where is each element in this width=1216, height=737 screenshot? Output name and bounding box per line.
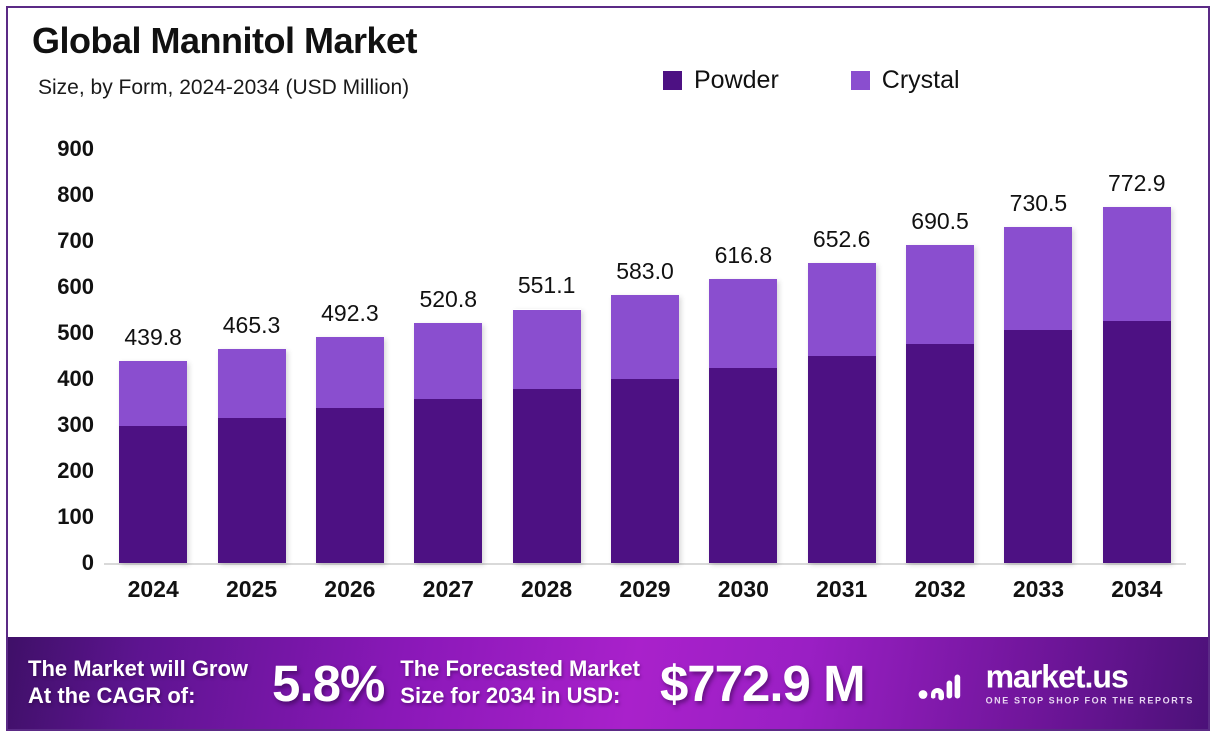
bar-segment-crystal[interactable]: [808, 263, 876, 356]
bar-segment-crystal[interactable]: [1004, 227, 1072, 330]
bar-total-label: 730.5: [1010, 190, 1068, 217]
y-axis: 0100200300400500600700800900: [32, 8, 94, 637]
cagr-block: The Market will Grow At the CAGR of: 5.8…: [8, 654, 384, 713]
bar-total-label: 772.9: [1108, 170, 1166, 197]
bar-stack[interactable]: [414, 323, 482, 563]
bar-segment-crystal[interactable]: [611, 295, 679, 379]
x-axis-tick-2025: 2025: [226, 576, 277, 603]
bars-area: 439.82024465.32025492.32026520.82027551.…: [104, 8, 1186, 637]
bar-group-2032[interactable]: 690.52032: [891, 8, 989, 637]
bar-stack[interactable]: [1103, 207, 1171, 563]
bar-segment-powder[interactable]: [119, 426, 187, 563]
bar-segment-crystal[interactable]: [119, 361, 187, 426]
forecast-block: The Forecasted Market Size for 2034 in U…: [384, 654, 864, 713]
y-axis-tick-400: 400: [57, 366, 94, 392]
logo-wordmark: market.us: [986, 661, 1194, 693]
bar-group-2026[interactable]: 492.32026: [301, 8, 399, 637]
bar-group-2024[interactable]: 439.82024: [104, 8, 202, 637]
x-axis-tick-2024: 2024: [128, 576, 179, 603]
bar-total-label: 465.3: [223, 312, 281, 339]
bar-segment-crystal[interactable]: [906, 245, 974, 343]
x-axis-tick-2031: 2031: [816, 576, 867, 603]
x-axis-tick-2029: 2029: [619, 576, 670, 603]
bar-segment-crystal[interactable]: [513, 310, 581, 389]
y-axis-tick-0: 0: [82, 550, 94, 576]
chart-card: Global Mannitol Market Size, by Form, 20…: [8, 8, 1208, 637]
bar-segment-powder[interactable]: [709, 368, 777, 563]
bar-segment-powder[interactable]: [1004, 330, 1072, 563]
bar-segment-crystal[interactable]: [709, 279, 777, 368]
forecast-caption: The Forecasted Market Size for 2034 in U…: [400, 656, 640, 710]
bar-stack[interactable]: [1004, 227, 1072, 563]
y-axis-tick-900: 900: [57, 136, 94, 162]
bar-stack[interactable]: [316, 337, 384, 563]
bar-group-2027[interactable]: 520.82027: [399, 8, 497, 637]
forecast-caption-line2: Size for 2034 in USD:: [400, 683, 640, 710]
bar-stack[interactable]: [808, 263, 876, 563]
y-axis-tick-600: 600: [57, 274, 94, 300]
forecast-value: $772.9 M: [660, 654, 865, 713]
footer-banner: The Market will Grow At the CAGR of: 5.8…: [8, 637, 1208, 729]
cagr-caption-line2: At the CAGR of:: [28, 683, 248, 710]
bar-total-label: 652.6: [813, 226, 871, 253]
bar-segment-powder[interactable]: [513, 389, 581, 563]
x-axis-tick-2034: 2034: [1111, 576, 1162, 603]
bar-stack[interactable]: [513, 309, 581, 563]
infographic-card: Global Mannitol Market Size, by Form, 20…: [6, 6, 1210, 731]
bar-group-2028[interactable]: 551.12028: [497, 8, 595, 637]
logo-tagline: ONE STOP SHOP FOR THE REPORTS: [986, 696, 1194, 706]
x-axis-tick-2033: 2033: [1013, 576, 1064, 603]
bar-total-label: 616.8: [715, 242, 773, 269]
bar-segment-powder[interactable]: [1103, 321, 1171, 563]
y-axis-tick-100: 100: [57, 504, 94, 530]
bar-segment-powder[interactable]: [316, 408, 384, 563]
bar-segment-powder[interactable]: [808, 356, 876, 563]
forecast-caption-line1: The Forecasted Market: [400, 656, 640, 683]
bar-total-label: 492.3: [321, 300, 379, 327]
x-axis-tick-2030: 2030: [718, 576, 769, 603]
bar-group-2034[interactable]: 772.92034: [1088, 8, 1186, 637]
bar-stack[interactable]: [119, 361, 187, 563]
bar-stack[interactable]: [611, 295, 679, 563]
y-axis-tick-300: 300: [57, 412, 94, 438]
bar-group-2025[interactable]: 465.32025: [202, 8, 300, 637]
x-axis-tick-2026: 2026: [324, 576, 375, 603]
cagr-caption-line1: The Market will Grow: [28, 656, 248, 683]
logo-mark-icon: [918, 666, 976, 700]
x-axis-tick-2032: 2032: [914, 576, 965, 603]
bar-stack[interactable]: [709, 279, 777, 563]
logo-text: market.us ONE STOP SHOP FOR THE REPORTS: [986, 661, 1194, 706]
bar-segment-powder[interactable]: [414, 399, 482, 563]
bar-segment-powder[interactable]: [906, 344, 974, 563]
bar-segment-crystal[interactable]: [316, 337, 384, 408]
chart-plot: 0100200300400500600700800900 439.8202446…: [8, 8, 1208, 637]
bar-total-label: 690.5: [911, 208, 969, 235]
bar-group-2031[interactable]: 652.62031: [793, 8, 891, 637]
y-axis-tick-500: 500: [57, 320, 94, 346]
bar-stack[interactable]: [906, 245, 974, 563]
y-axis-tick-200: 200: [57, 458, 94, 484]
bar-stack[interactable]: [218, 349, 286, 563]
bar-segment-powder[interactable]: [218, 418, 286, 563]
cagr-value: 5.8%: [272, 654, 384, 713]
cagr-caption: The Market will Grow At the CAGR of:: [28, 656, 248, 710]
bar-segment-powder[interactable]: [611, 379, 679, 563]
bar-segment-crystal[interactable]: [414, 323, 482, 398]
x-axis-tick-2027: 2027: [423, 576, 474, 603]
bar-total-label: 583.0: [616, 258, 674, 285]
y-axis-tick-700: 700: [57, 228, 94, 254]
bar-total-label: 551.1: [518, 272, 576, 299]
bar-total-label: 520.8: [419, 286, 477, 313]
bar-segment-crystal[interactable]: [1103, 207, 1171, 321]
bar-group-2030[interactable]: 616.82030: [694, 8, 792, 637]
bar-total-label: 439.8: [124, 324, 182, 351]
bar-group-2029[interactable]: 583.02029: [596, 8, 694, 637]
bar-group-2033[interactable]: 730.52033: [989, 8, 1087, 637]
bar-segment-crystal[interactable]: [218, 349, 286, 418]
y-axis-tick-800: 800: [57, 182, 94, 208]
market-us-logo[interactable]: market.us ONE STOP SHOP FOR THE REPORTS: [918, 661, 1194, 706]
x-axis-tick-2028: 2028: [521, 576, 572, 603]
